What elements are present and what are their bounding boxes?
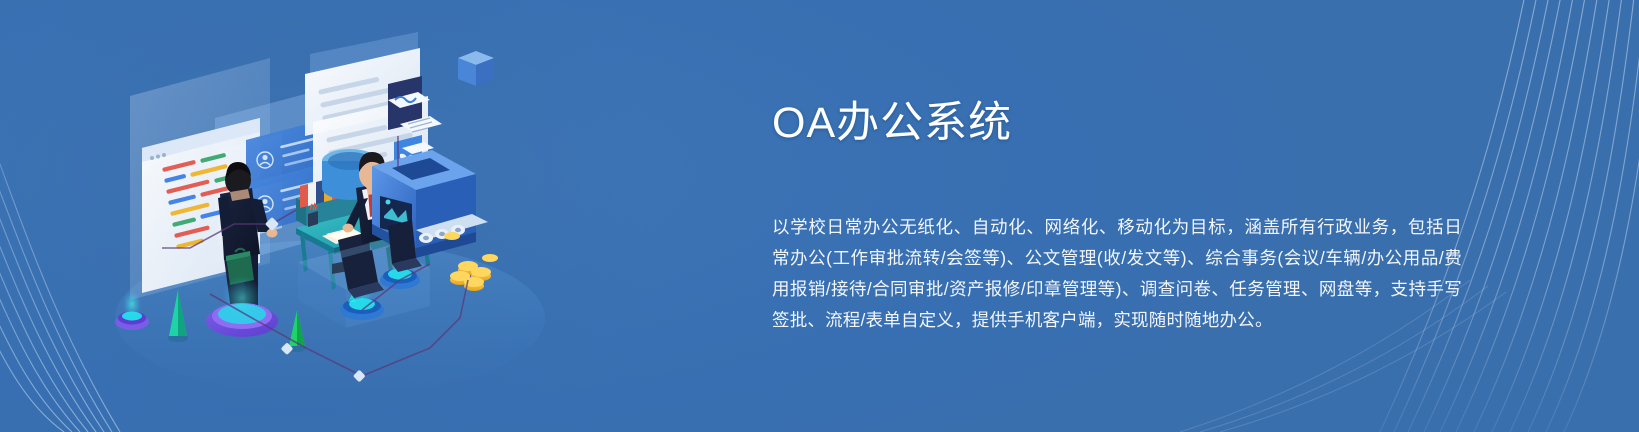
oa-system-banner: OA办公系统 以学校日常办公无纸化、自动化、网络化、移动化为目标，涵盖所有行政业…	[0, 0, 1639, 432]
banner-content: OA办公系统 以学校日常办公无纸化、自动化、网络化、移动化为目标，涵盖所有行政业…	[772, 0, 1492, 432]
floating-cube	[458, 51, 494, 86]
page-title: OA办公系统	[772, 99, 1012, 148]
page-description: 以学校日常办公无纸化、自动化、网络化、移动化为目标，涵盖所有行政业务，包括日常办…	[772, 212, 1462, 336]
isometric-office-illustration	[100, 18, 550, 388]
